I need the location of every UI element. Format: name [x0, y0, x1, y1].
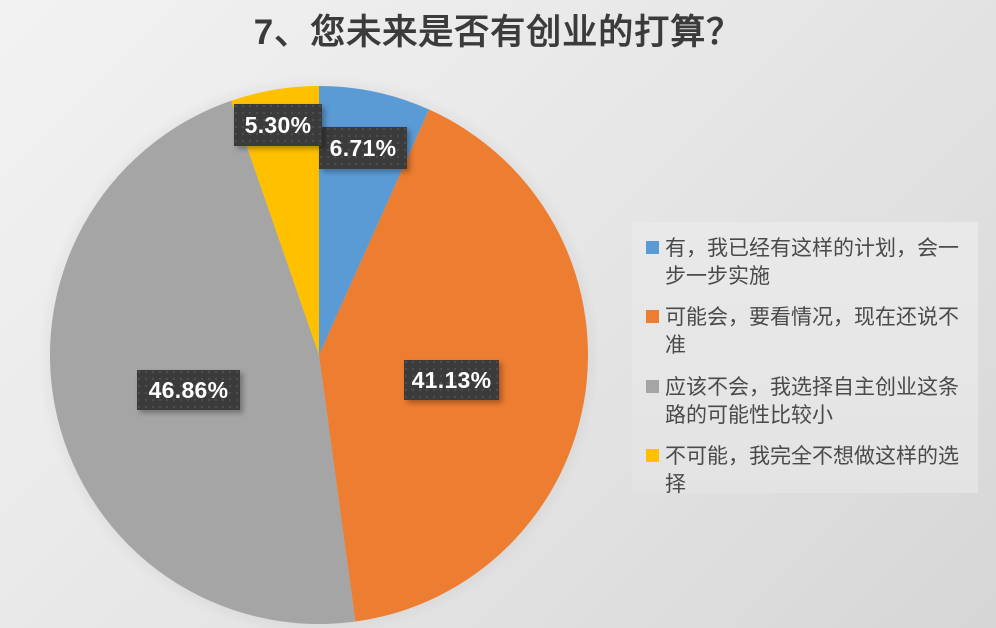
- legend-label-3: 不可能，我完全不想做这样的选择: [665, 442, 970, 498]
- legend-label-1: 可能会，要看情况，现在还说不准: [665, 303, 970, 359]
- chart-legend: 有，我已经有这样的计划，会一步一步实施 可能会，要看情况，现在还说不准 应该不会…: [632, 222, 978, 493]
- data-label-slice-2: 46.86%: [137, 370, 240, 410]
- data-label-slice-3: 5.30%: [234, 104, 322, 146]
- legend-swatch-icon-1: [646, 310, 659, 323]
- legend-swatch-icon-2: [646, 380, 659, 393]
- legend-item-0[interactable]: 有，我已经有这样的计划，会一步一步实施: [646, 234, 970, 290]
- legend-label-0: 有，我已经有这样的计划，会一步一步实施: [665, 234, 970, 290]
- legend-label-2: 应该不会，我选择自主创业这条路的可能性比较小: [665, 373, 970, 429]
- legend-swatch-icon-0: [646, 241, 659, 254]
- data-label-slice-1: 41.13%: [404, 360, 499, 400]
- legend-item-3[interactable]: 不可能，我完全不想做这样的选择: [646, 442, 970, 498]
- data-label-slice-0: 6.71%: [319, 127, 407, 169]
- chart-canvas: 7、您未来是否有创业的打算？ 6.71% 41.13% 46.86% 5.30%…: [0, 0, 996, 628]
- legend-item-2[interactable]: 应该不会，我选择自主创业这条路的可能性比较小: [646, 373, 970, 429]
- legend-swatch-icon-3: [646, 449, 659, 462]
- legend-item-1[interactable]: 可能会，要看情况，现在还说不准: [646, 303, 970, 359]
